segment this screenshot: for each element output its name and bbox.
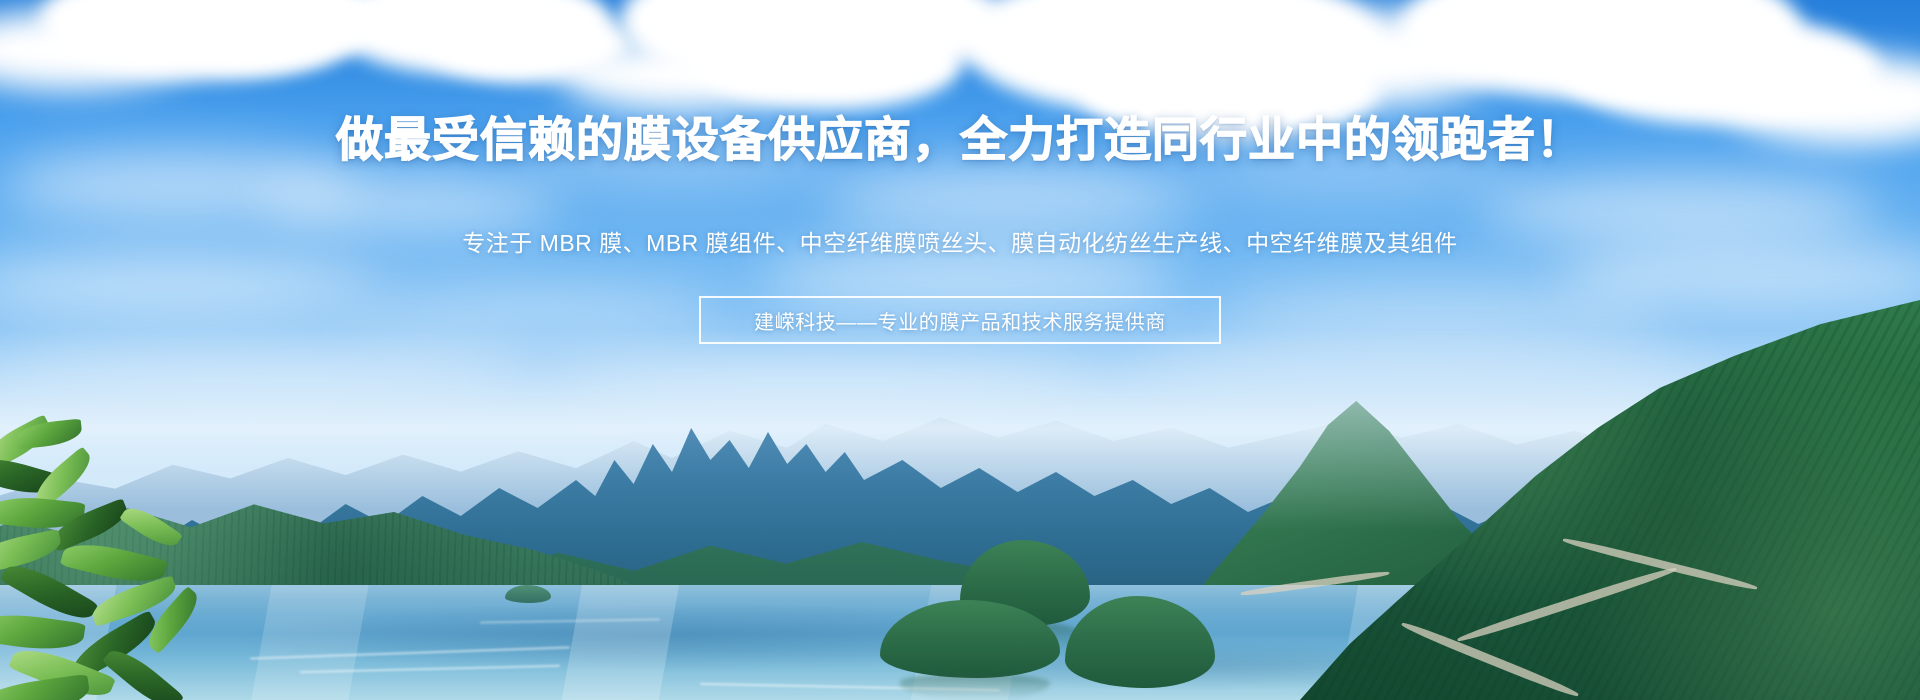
hero-banner: 做最受信赖的膜设备供应商，全力打造同行业中的领跑者！ 专注于 MBR 膜、MBR… <box>0 0 1920 700</box>
banner-headline: 做最受信赖的膜设备供应商，全力打造同行业中的领跑者！ <box>0 112 1920 167</box>
banner-tagline-box: 建嵘科技——专业的膜产品和技术服务提供商 <box>699 296 1221 344</box>
banner-subtitle: 专注于 MBR 膜、MBR 膜组件、中空纤维膜喷丝头、膜自动化纺丝生产线、中空纤… <box>0 226 1920 261</box>
banner-text-overlay: 做最受信赖的膜设备供应商，全力打造同行业中的领跑者！ 专注于 MBR 膜、MBR… <box>0 0 1920 700</box>
banner-tagline-text: 建嵘科技——专业的膜产品和技术服务提供商 <box>754 306 1166 335</box>
